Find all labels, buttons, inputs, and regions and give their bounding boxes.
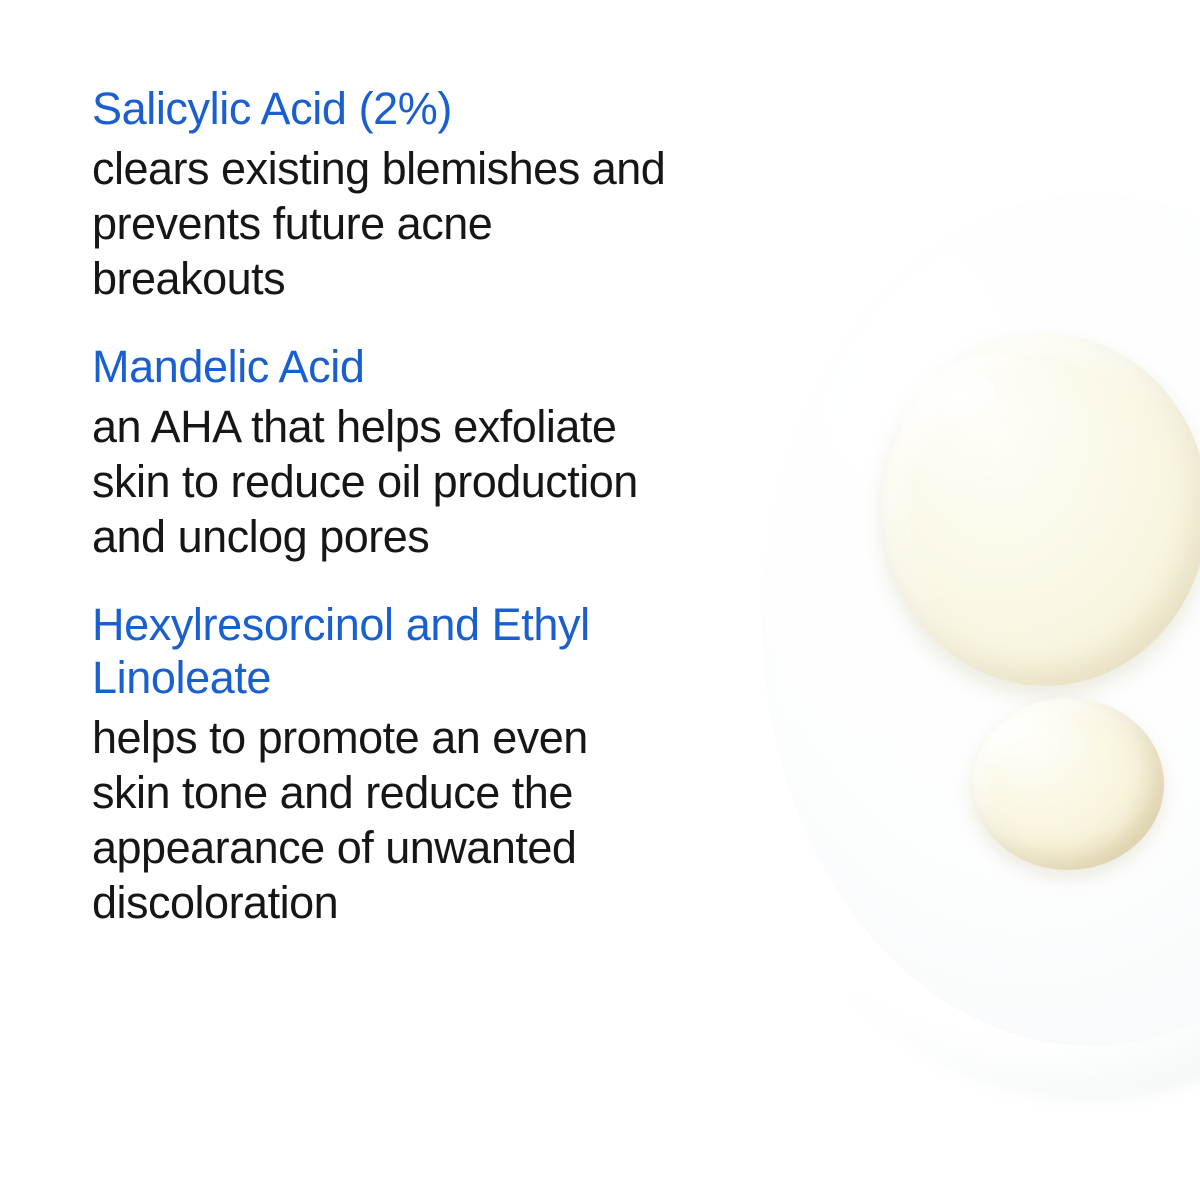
ingredient-description: an AHA that helps exfoliate skin to redu… (92, 399, 752, 564)
product-ingredient-callout: Salicylic Acid (2%) clears existing blem… (0, 0, 1200, 1200)
ingredient-list: Salicylic Acid (2%) clears existing blem… (92, 82, 752, 930)
ingredient-name: Salicylic Acid (2%) (92, 82, 752, 135)
serum-droplet-small-sheen (986, 712, 1096, 794)
serum-droplet-large (882, 334, 1200, 686)
dish-inner-rim-ring (734, 166, 1200, 1074)
dish-glass-sheen (772, 204, 1200, 1034)
petri-dish-image (676, 112, 1200, 1128)
serum-droplet-small (972, 698, 1164, 870)
dish-shadow-halo (704, 142, 1200, 1102)
dish-bottom-reflection (738, 170, 1200, 1070)
ingredient-name: Mandelic Acid (92, 340, 752, 393)
ingredient-item-salicylic-acid: Salicylic Acid (2%) clears existing blem… (92, 82, 752, 306)
ingredient-description: helps to promote an even skin tone and r… (92, 710, 752, 930)
dish-hairline-ring (750, 182, 1200, 1058)
serum-droplet-large-highlight (934, 370, 1001, 423)
dish-interior-surface (762, 194, 1200, 1046)
ingredient-item-mandelic-acid: Mandelic Acid an AHA that helps exfoliat… (92, 340, 752, 564)
ingredient-description: clears existing blemishes and prevents f… (92, 141, 752, 306)
ingredient-name: Hexylresorcinol and Ethyl Linoleate (92, 598, 752, 704)
dish-outer-rim (716, 148, 1200, 1092)
ingredient-item-hexylresorcinol-ethyl-linoleate: Hexylresorcinol and Ethyl Linoleate help… (92, 598, 752, 930)
serum-droplet-large-sheen (900, 356, 1090, 506)
